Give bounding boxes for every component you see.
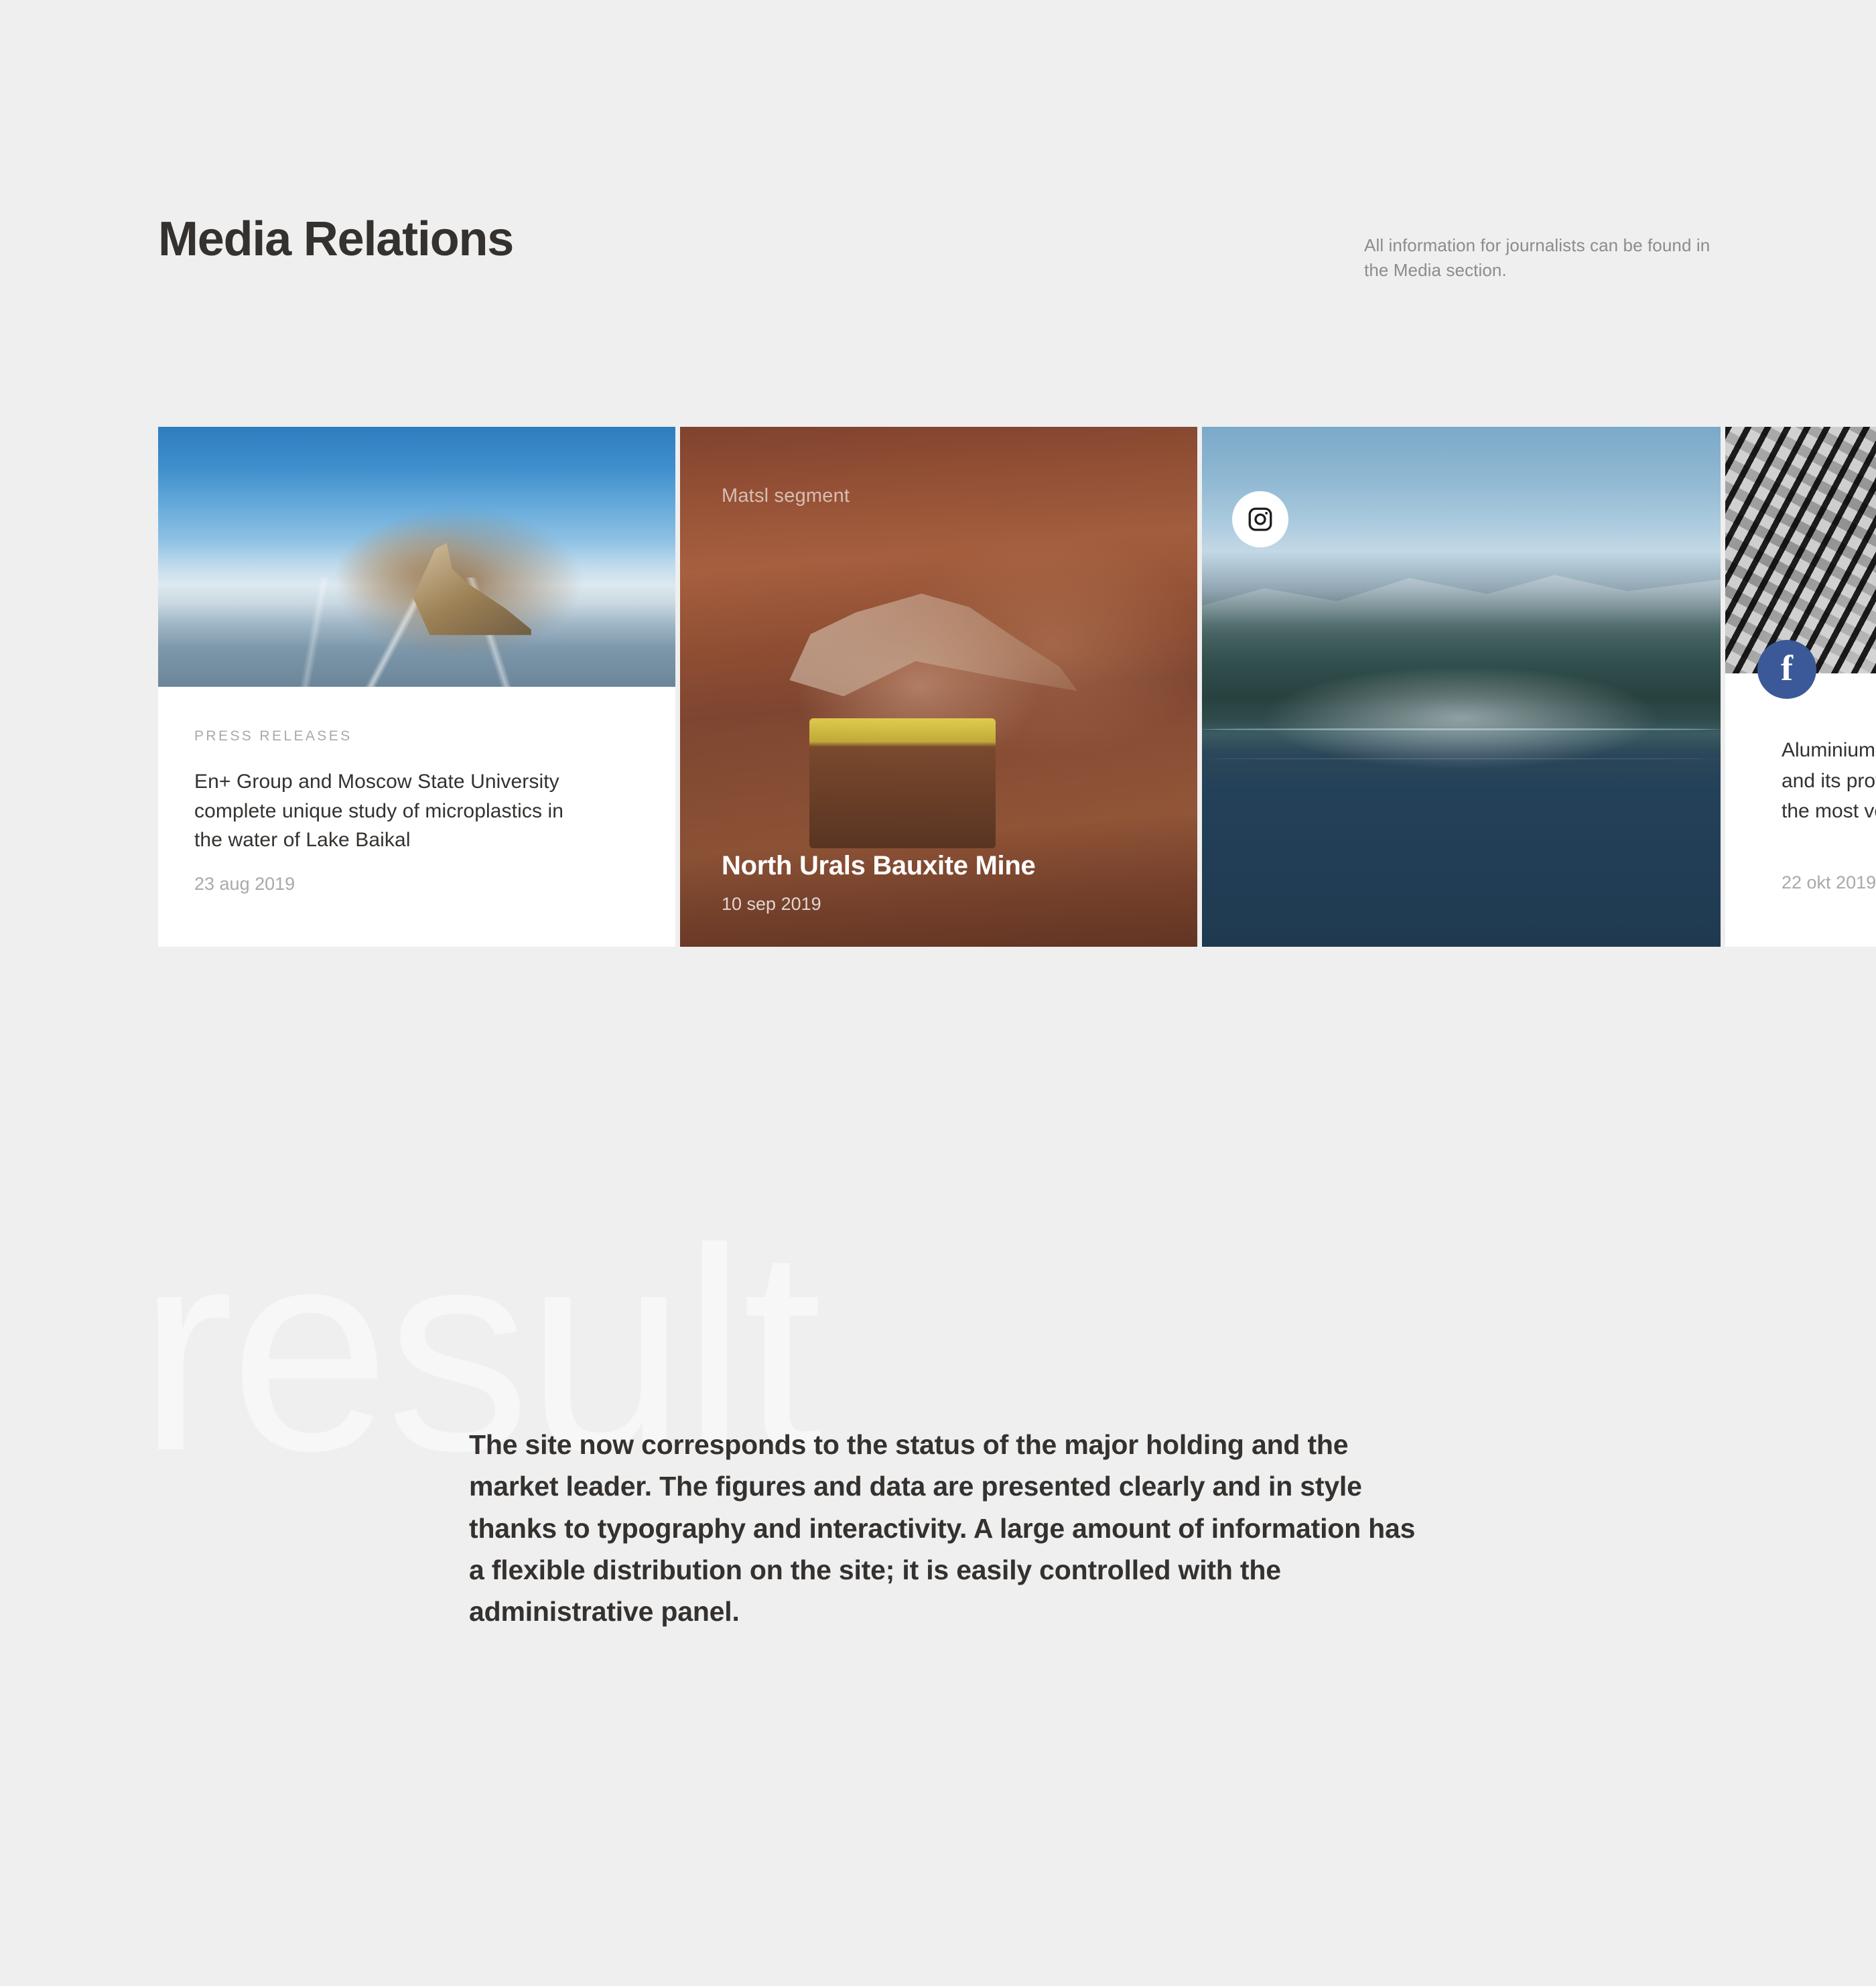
card-headline-line-2[interactable]: and its prot: [1782, 766, 1876, 797]
instagram-icon[interactable]: [1232, 491, 1288, 547]
card-image-lake-baikal: [158, 427, 675, 687]
page-header: Media Relations All information for jour…: [158, 214, 1719, 283]
card-headline-line-1[interactable]: Aluminium's: [1782, 735, 1876, 766]
instagram-glyph: [1246, 505, 1274, 533]
card-date: 23 aug 2019: [194, 874, 295, 895]
media-card-bauxite-mine[interactable]: Matsl segment North Urals Bauxite Mine 1…: [680, 427, 1197, 947]
card-body: Aluminium's and its prot the most ve 22 …: [1725, 673, 1876, 947]
media-card-press-release[interactable]: PRESS RELEASES En+ Group and Moscow Stat…: [158, 427, 675, 947]
card-headline[interactable]: North Urals Bauxite Mine: [722, 851, 1035, 881]
card-kicker: PRESS RELEASES: [194, 728, 639, 744]
card-date: 10 sep 2019: [722, 894, 821, 915]
card-image-metal-mesh: [1725, 427, 1876, 673]
card-headline-line-3[interactable]: the most ve: [1782, 796, 1876, 827]
card-kicker: Matsl segment: [722, 485, 850, 507]
card-body: PRESS RELEASES En+ Group and Moscow Stat…: [158, 687, 675, 947]
card-date: 22 okt 2019: [1782, 872, 1876, 893]
media-card-facebook[interactable]: f Aluminium's and its prot the most ve 2…: [1725, 427, 1876, 947]
media-card-strip[interactable]: PRESS RELEASES En+ Group and Moscow Stat…: [158, 427, 1876, 947]
media-relations-page: Media Relations All information for jour…: [0, 0, 1876, 1986]
result-body-text: The site now corresponds to the status o…: [469, 1424, 1420, 1633]
page-title: Media Relations: [158, 214, 513, 265]
header-note: All information for journalists can be f…: [1364, 214, 1719, 283]
media-card-instagram[interactable]: [1202, 427, 1721, 947]
card-headline[interactable]: En+ Group and Moscow State University co…: [194, 767, 576, 855]
